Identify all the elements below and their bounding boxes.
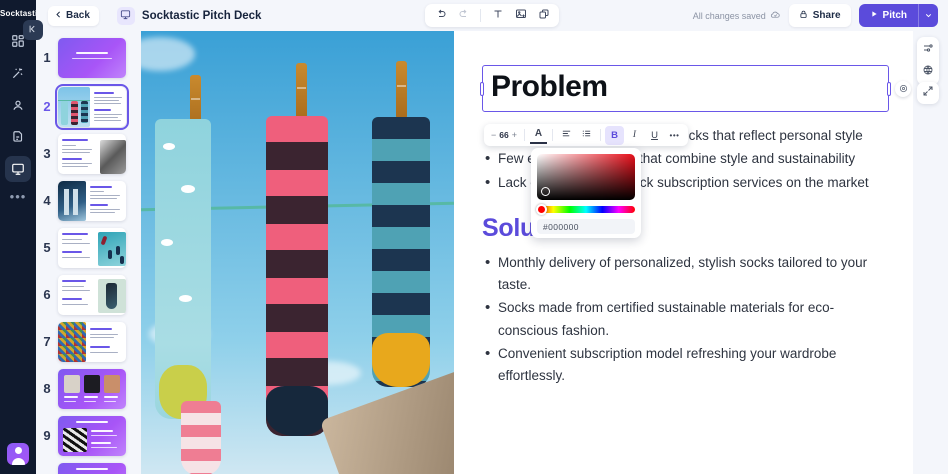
duplicate-button[interactable]	[533, 5, 554, 26]
clothespin	[296, 63, 307, 121]
slide-number: 9	[36, 428, 58, 443]
divider	[552, 129, 553, 141]
document-edit-icon	[11, 130, 25, 144]
slide-thumbnail-4[interactable]	[58, 181, 126, 221]
slide-number: 4	[36, 193, 58, 208]
list-item[interactable]: 1	[36, 34, 141, 81]
hue-handle[interactable]	[536, 204, 547, 215]
chevron-down-icon	[924, 7, 933, 25]
list-item: Monthly delivery of personalized, stylis…	[482, 252, 889, 297]
right-dock	[917, 37, 939, 85]
list-item[interactable]: 10	[36, 459, 141, 474]
element-settings-button[interactable]	[895, 81, 911, 97]
play-icon	[870, 10, 878, 21]
magic-wand-icon	[11, 66, 25, 80]
pitch-button[interactable]: Pitch	[859, 4, 918, 27]
slide-thumbnail-8[interactable]	[58, 369, 126, 409]
list-item: Socks made from certified sustainable ma…	[482, 297, 889, 342]
presentation-icon	[120, 7, 131, 25]
back-button[interactable]: Back	[48, 6, 99, 26]
slide-text-pane: Problem High demand for fashionable sock…	[454, 31, 913, 474]
list-item[interactable]: 6	[36, 271, 141, 318]
divider	[480, 9, 481, 22]
image-add-icon	[515, 7, 527, 25]
text-color-button[interactable]: A	[529, 126, 548, 145]
clothespin	[396, 61, 407, 119]
page-title: Socktastic Pitch Deck	[142, 10, 262, 22]
slide-title: Problem	[491, 72, 880, 102]
expand-icon	[922, 84, 934, 102]
slide-navigator[interactable]: 1 2	[36, 31, 141, 474]
rail-brand: Socktastic	[0, 9, 36, 18]
lock-icon	[799, 10, 808, 22]
slide-thumbnail-10[interactable]	[58, 463, 126, 474]
sock-teal	[155, 119, 211, 419]
redo-button[interactable]	[453, 5, 474, 26]
bullet-list-button[interactable]	[577, 126, 596, 145]
share-button[interactable]: Share	[789, 4, 851, 27]
slide-thumbnail-7[interactable]	[58, 322, 126, 362]
sock-small-pink	[181, 401, 221, 474]
slide-thumbnail-5[interactable]	[58, 228, 126, 268]
rail-nav: •••	[5, 28, 31, 203]
back-label: Back	[66, 10, 90, 21]
sidebar-item-presentations[interactable]	[5, 156, 31, 182]
cloud-check-icon	[770, 9, 781, 22]
presentation-icon	[11, 162, 25, 176]
list-item[interactable]: 3	[36, 130, 141, 177]
slide-image[interactable]	[141, 31, 454, 474]
avatar[interactable]	[7, 443, 29, 465]
sv-handle[interactable]	[541, 187, 550, 196]
resize-handle-left[interactable]	[480, 82, 484, 96]
italic-button[interactable]: I	[625, 126, 644, 145]
hue-slider[interactable]	[537, 206, 635, 213]
slide-number: 6	[36, 287, 58, 302]
more-options-button[interactable]: •••	[665, 126, 684, 145]
sock-striped-pink	[266, 116, 328, 436]
slide-thumbnail-2[interactable]	[58, 87, 126, 127]
slide-number: 3	[36, 146, 58, 161]
chevron-left-panel-icon	[28, 21, 38, 39]
slide-thumbnail-6[interactable]	[58, 275, 126, 315]
hex-input[interactable]: #000000	[537, 219, 635, 234]
app-rail: Socktastic	[0, 0, 36, 474]
undo-button[interactable]	[430, 5, 451, 26]
layers-button[interactable]	[919, 63, 937, 81]
presentation-editor: Socktastic	[0, 0, 948, 474]
list-item[interactable]: 9	[36, 412, 141, 459]
divider	[600, 129, 601, 141]
fullscreen-button[interactable]	[917, 82, 939, 104]
divider	[524, 129, 525, 141]
add-image-button[interactable]	[510, 5, 531, 26]
avatar-head	[15, 447, 22, 454]
list-item: Convenient subscription model refreshing…	[482, 343, 889, 388]
font-size-decrease-button[interactable]: −	[491, 130, 496, 140]
font-size-value[interactable]: 66	[499, 130, 508, 140]
sidebar-item-documents[interactable]	[5, 124, 31, 150]
title-textbox[interactable]: Problem	[482, 65, 889, 112]
slide-number: 7	[36, 334, 58, 349]
top-right-actions: All changes saved Share Pitch	[693, 4, 938, 27]
slide-number: 2	[36, 99, 58, 114]
saturation-value-area[interactable]	[537, 154, 635, 200]
slide-thumbnail-1[interactable]	[58, 38, 126, 78]
list-item[interactable]: 8	[36, 365, 141, 412]
color-picker-popover[interactable]: #000000	[531, 148, 641, 238]
text-format-toolbar: − 66 + A B I U •••	[484, 124, 688, 146]
current-slide: Problem High demand for fashionable sock…	[141, 31, 913, 474]
pitch-button-group: Pitch	[859, 4, 938, 27]
save-status-label: All changes saved	[693, 11, 766, 21]
sidebar-item-avatar-studio[interactable]	[5, 92, 31, 118]
slide-number: 5	[36, 240, 58, 255]
sock-striped-navy	[372, 117, 430, 387]
gear-icon	[899, 80, 908, 98]
deck-type-icon	[117, 7, 135, 25]
slide-thumbnail-3[interactable]	[58, 134, 126, 174]
font-size-increase-button[interactable]: +	[512, 130, 517, 140]
resize-handle-right[interactable]	[887, 82, 891, 96]
font-size-stepper[interactable]: − 66 +	[488, 130, 520, 140]
chevron-left-icon	[54, 10, 63, 22]
slide-thumbnail-9[interactable]	[58, 416, 126, 456]
list-item[interactable]: 4	[36, 177, 141, 224]
adjust-settings-button[interactable]	[919, 41, 937, 59]
rail-more-button[interactable]: •••	[10, 190, 27, 203]
edit-tools	[425, 4, 559, 27]
solution-bullets[interactable]: Monthly delivery of personalized, stylis…	[482, 252, 889, 388]
duplicate-icon	[538, 7, 550, 25]
underline-button[interactable]: U	[645, 126, 664, 145]
list-item[interactable]: 7	[36, 318, 141, 365]
text-color-icon: A	[535, 129, 542, 139]
bold-button[interactable]: B	[605, 126, 624, 145]
align-button[interactable]	[557, 126, 576, 145]
slide-number: 8	[36, 381, 58, 396]
pitch-label: Pitch	[883, 10, 907, 21]
collapse-sidebar-button[interactable]	[23, 20, 43, 40]
text-icon	[492, 7, 504, 25]
list-item[interactable]: 5	[36, 224, 141, 271]
sliders-icon	[922, 41, 934, 59]
bullet-list-icon	[581, 128, 592, 142]
add-text-button[interactable]	[487, 5, 508, 26]
top-toolbar: Back Socktastic Pitch Deck	[36, 0, 948, 31]
pitch-options-button[interactable]	[918, 4, 938, 27]
layers-icon	[922, 63, 934, 81]
slide-canvas[interactable]: Problem High demand for fashionable sock…	[141, 31, 913, 474]
list-item[interactable]: 2	[36, 83, 141, 130]
slide-number: 1	[36, 50, 58, 65]
share-label: Share	[813, 10, 841, 21]
undo-icon	[435, 7, 447, 25]
align-left-icon	[561, 128, 572, 142]
save-status: All changes saved	[693, 9, 781, 22]
avatar-body	[12, 458, 25, 465]
avatar-icon	[11, 98, 25, 112]
redo-icon	[458, 7, 470, 25]
sidebar-item-generate[interactable]	[5, 60, 31, 86]
